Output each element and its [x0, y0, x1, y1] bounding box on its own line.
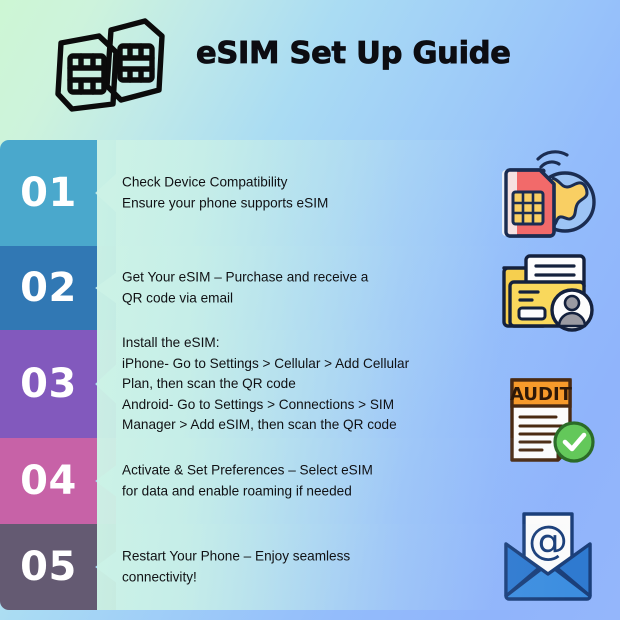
step-number-02: 02 [0, 268, 97, 308]
step-row-02: 02 Get Your eSIM – Purchase and receive … [0, 246, 620, 330]
step-text-03: Install the eSIM: iPhone- Go to Settings… [122, 333, 467, 436]
step-text-line: Ensure your phone supports eSIM [122, 193, 452, 214]
step-text-line: iPhone- Go to Settings > Cellular > Add … [122, 353, 467, 374]
step-text-01: Check Device Compatibility Ensure your p… [122, 173, 452, 214]
step-text-panel-05: Restart Your Phone – Enjoy seamless conn… [97, 524, 620, 610]
header: eSIM Set Up Guide [0, 0, 620, 130]
step-number-01: 01 [0, 173, 97, 213]
step-number-04: 04 [0, 461, 97, 501]
step-text-line: Install the eSIM: [122, 333, 467, 354]
step-text-line: QR code via email [122, 288, 452, 309]
step-row-04: 04 Activate & Set Preferences – Select e… [0, 438, 620, 524]
step-text-line: Manager > Add eSIM, then scan the QR cod… [122, 415, 467, 436]
step-number-05: 05 [0, 547, 97, 587]
audit-label: AUDIT [510, 384, 573, 405]
step-text-04: Activate & Set Preferences – Select eSIM… [122, 461, 452, 502]
dual-sim-cards-icon [44, 16, 174, 116]
step-text-line: Check Device Compatibility [122, 173, 452, 194]
step-text-line: Get Your eSIM – Purchase and receive a [122, 268, 452, 289]
step-text-line: Activate & Set Preferences – Select eSIM [122, 461, 452, 482]
sim-card-globe-icon [498, 148, 598, 240]
step-text-line: Android- Go to Settings > Connections > … [122, 394, 467, 415]
infographic-poster: eSIM Set Up Guide 01 Check Device Compat… [0, 0, 620, 620]
step-text-02: Get Your eSIM – Purchase and receive a Q… [122, 268, 452, 309]
step-row-05: 05 Restart Your Phone – Enjoy seamless c… [0, 524, 620, 610]
step-number-03: 03 [0, 364, 97, 404]
step-row-03: 03 Install the eSIM: iPhone- Go to Setti… [0, 330, 620, 438]
step-text-line: Plan, then scan the QR code [122, 374, 467, 395]
step-row-01: 01 Check Device Compatibility Ensure you… [0, 140, 620, 246]
step-text-line: for data and enable roaming if needed [122, 481, 452, 502]
page-title: eSIM Set Up Guide [196, 36, 596, 71]
folder-user-icon [498, 244, 598, 332]
step-text-line: Restart Your Phone – Enjoy seamless [122, 547, 452, 568]
step-text-line: connectivity! [122, 567, 452, 588]
step-text-05: Restart Your Phone – Enjoy seamless conn… [122, 547, 452, 588]
